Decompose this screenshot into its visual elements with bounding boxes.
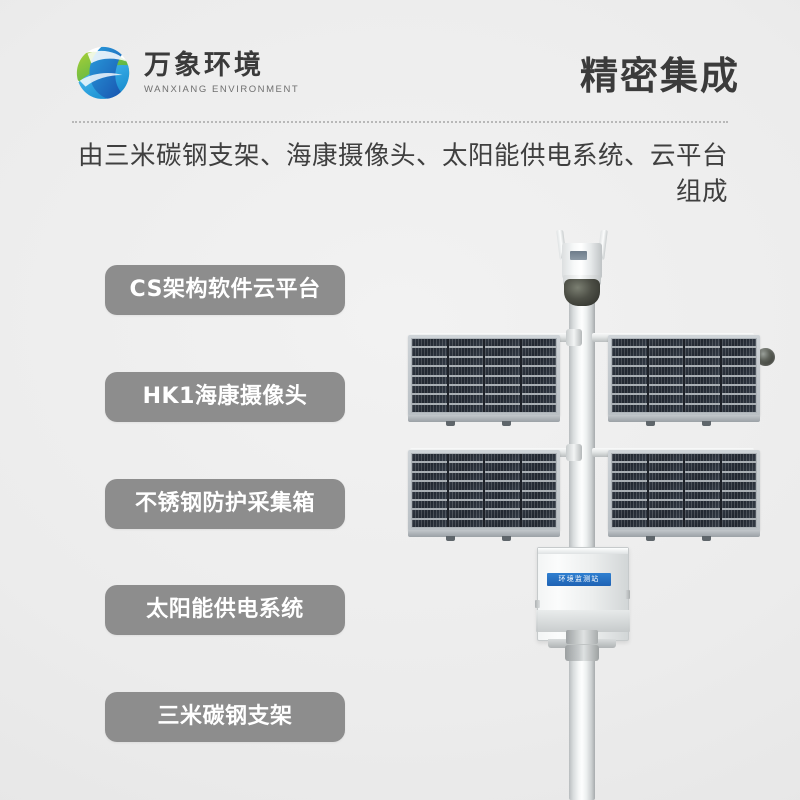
page-title: 精密集成 <box>580 45 740 100</box>
brand-logo: 万象环境 WANXIANG ENVIRONMENT <box>72 42 299 104</box>
enclosure-hinge <box>625 590 630 599</box>
enclosure-mount-bracket <box>536 610 630 632</box>
panel-foot <box>446 536 455 541</box>
brand-name-cn: 万象环境 <box>144 51 299 80</box>
panel-rail <box>408 530 560 537</box>
enclosure-lid <box>538 548 628 554</box>
brand-logo-text: 万象环境 WANXIANG ENVIRONMENT <box>144 51 299 94</box>
panel-foot <box>646 536 655 541</box>
feature-pill-cloud-platform[interactable]: CS架构软件云平台 <box>105 265 345 315</box>
feature-pill-solar-power[interactable]: 太阳能供电系统 <box>105 585 345 635</box>
panel-hub-upper <box>566 329 582 346</box>
panel-foot <box>702 536 711 541</box>
feature-pill-camera[interactable]: HK1海康摄像头 <box>105 372 345 422</box>
panel-foot <box>502 421 511 426</box>
pole-mid-collar <box>566 630 598 644</box>
panel-rail <box>608 530 760 537</box>
poster-page: 万象环境 WANXIANG ENVIRONMENT 精密集成 由三米碳钢支架、海… <box>0 0 800 800</box>
ptz-dome-camera-icon <box>564 279 600 306</box>
pole-joint-collar <box>565 645 599 661</box>
camera-vent-slot <box>570 251 587 260</box>
stainless-steel-enclosure: 环境监测站 <box>537 547 629 641</box>
solar-panel-bottom-left <box>408 450 560 531</box>
panel-foot <box>702 421 711 426</box>
enclosure-label: 环境监测站 <box>547 573 611 586</box>
panel-hub-lower <box>566 444 582 461</box>
brand-name-en: WANXIANG ENVIRONMENT <box>144 84 299 95</box>
panel-foot <box>502 536 511 541</box>
panel-foot <box>646 421 655 426</box>
camera-housing <box>562 243 602 279</box>
panel-rail <box>608 415 760 422</box>
solar-panel-top-left <box>408 335 560 416</box>
solar-panel-top-right <box>608 335 760 416</box>
panel-rail <box>408 415 560 422</box>
solar-panel-bottom-right <box>608 450 760 531</box>
feature-pill-enclosure[interactable]: 不锈钢防护采集箱 <box>105 479 345 529</box>
header-divider <box>72 121 728 123</box>
panel-foot <box>446 421 455 426</box>
equipment-photo: 环境监测站 <box>380 215 800 800</box>
page-subtitle: 由三米碳钢支架、海康摄像头、太阳能供电系统、云平台组成 <box>72 138 728 210</box>
enclosure-latch <box>535 600 540 608</box>
carbon-steel-pole <box>569 275 595 800</box>
globe-swirl-logo-icon <box>72 42 134 104</box>
feature-pill-pole[interactable]: 三米碳钢支架 <box>105 692 345 742</box>
